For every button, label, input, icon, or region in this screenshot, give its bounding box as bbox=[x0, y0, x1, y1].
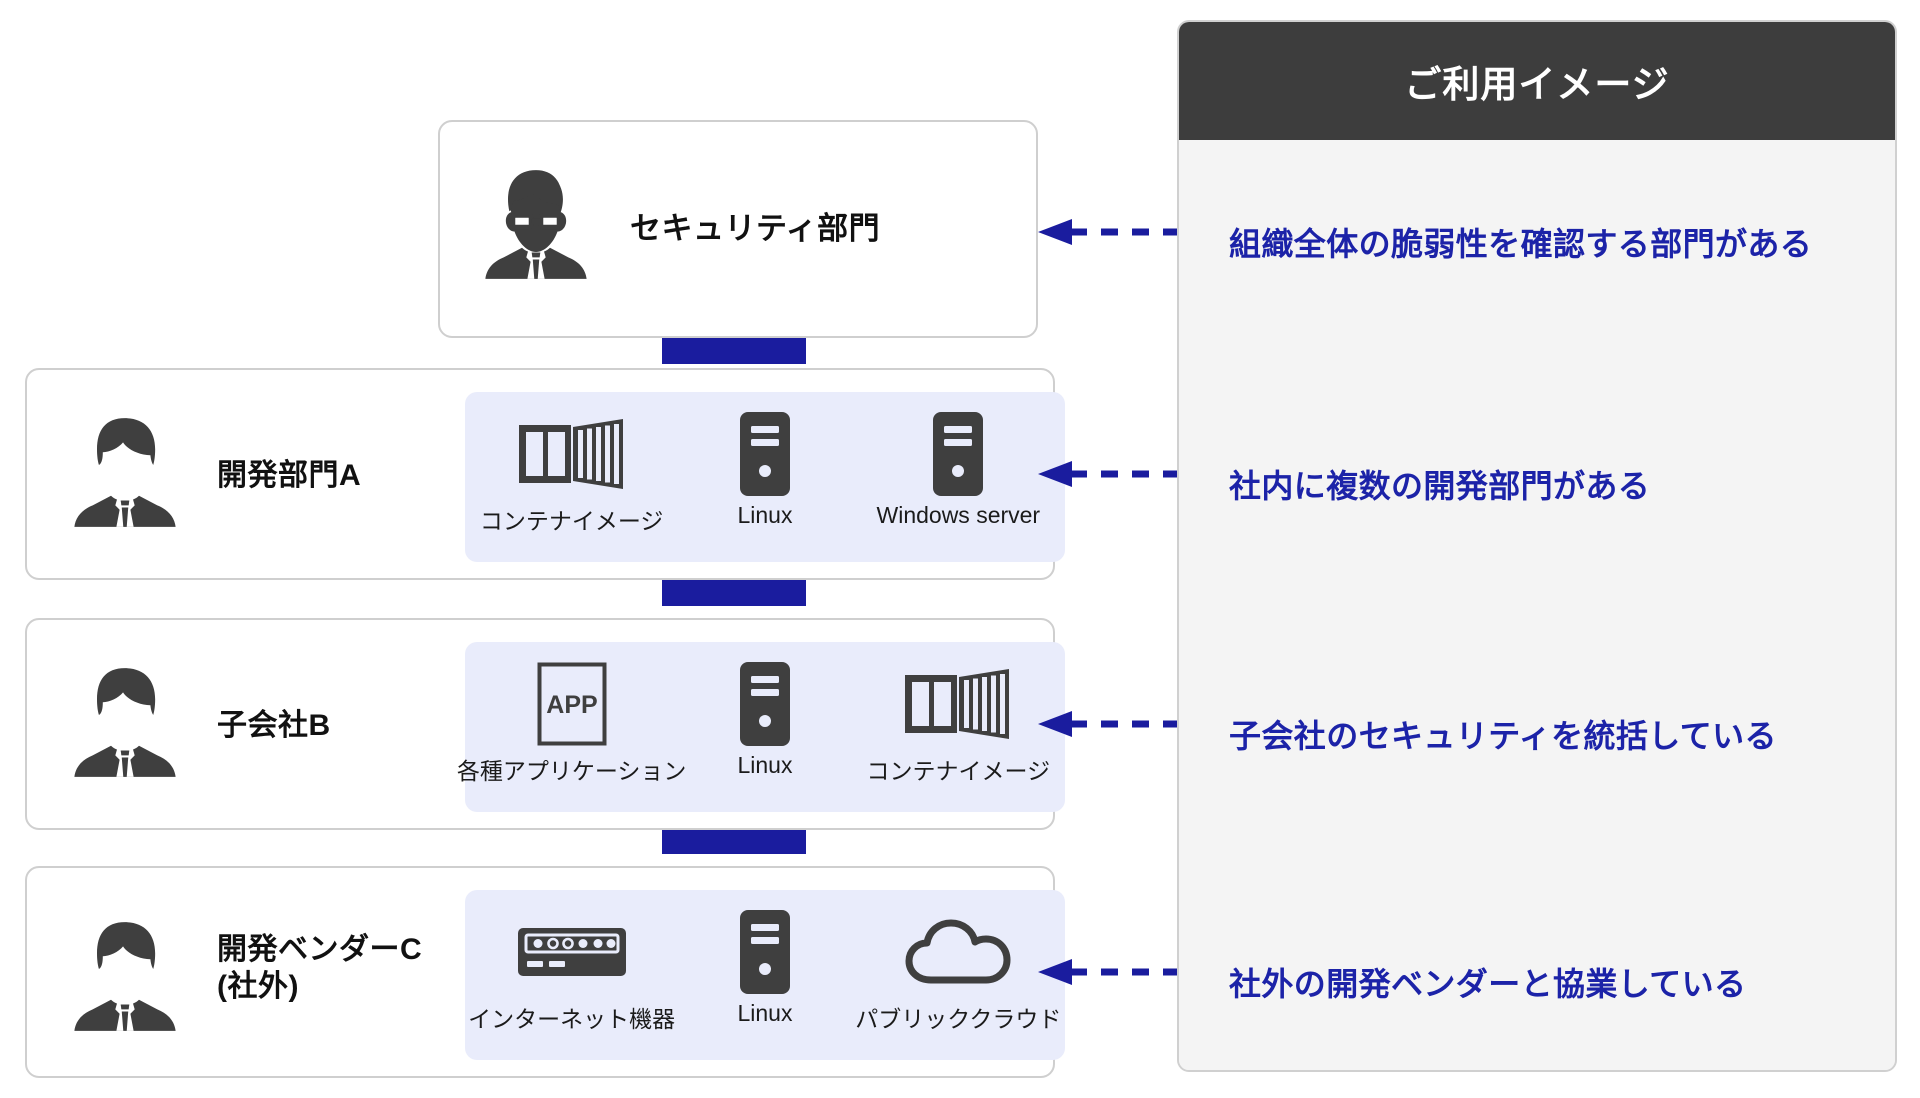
arrow-to-note-3 bbox=[1038, 711, 1178, 737]
person-icon bbox=[71, 920, 179, 1032]
svg-text:APP: APP bbox=[546, 691, 597, 719]
connector-security-to-a bbox=[662, 338, 806, 364]
connector-a-to-b bbox=[662, 580, 806, 606]
usage-image-panel: ご利用イメージ 組織全体の脆弱性を確認する部門がある 社内に複数の開発部門がある… bbox=[1177, 20, 1897, 1072]
asset-linux: Linux bbox=[670, 410, 860, 529]
arrow-to-note-1 bbox=[1038, 219, 1178, 245]
network-switch-icon bbox=[516, 908, 628, 996]
usage-note-2: 社内に複数の開発部門がある bbox=[1229, 461, 1650, 507]
cloud-icon bbox=[905, 908, 1011, 996]
asset-label: パブリッククラウド bbox=[855, 1000, 1061, 1034]
asset-label: Linux bbox=[737, 752, 792, 779]
person-icon bbox=[71, 416, 179, 528]
connector-b-to-c bbox=[662, 828, 806, 854]
asset-label: Linux bbox=[737, 502, 792, 529]
security-department-label: セキュリティ部門 bbox=[630, 210, 880, 248]
asset-label: コンテナイメージ bbox=[480, 502, 664, 536]
asset-label: Linux bbox=[737, 1000, 792, 1027]
asset-container-image: コンテナイメージ bbox=[477, 410, 667, 536]
development-vendor-c-card: 開発ベンダーC (社外) bbox=[25, 866, 1055, 1078]
development-department-a-card: 開発部門A bbox=[25, 368, 1055, 580]
asset-label: インターネット機器 bbox=[468, 1000, 675, 1034]
diagram-canvas: セキュリティ部門 開発部門A bbox=[0, 0, 1920, 1098]
asset-label: Windows server bbox=[877, 502, 1041, 529]
arrow-to-note-2 bbox=[1038, 461, 1178, 487]
container-image-icon bbox=[903, 660, 1013, 748]
asset-label: 各種アプリケーション bbox=[457, 752, 687, 786]
server-tower-icon bbox=[739, 660, 791, 748]
panel-header: ご利用イメージ bbox=[1179, 22, 1895, 140]
development-vendor-c-label: 開発ベンダーC (社外) bbox=[217, 932, 422, 1005]
usage-note-4: 社外の開発ベンダーと協業している bbox=[1229, 959, 1746, 1005]
asset-windows-server: Windows server bbox=[863, 410, 1053, 529]
asset-internet-device: インターネット機器 bbox=[477, 908, 667, 1034]
usage-note-1: 組織全体の脆弱性を確認する部門がある bbox=[1229, 219, 1812, 265]
asset-linux: Linux bbox=[670, 908, 860, 1027]
asset-panel-c: インターネット機器 Linux bbox=[465, 890, 1065, 1060]
server-tower-icon bbox=[739, 410, 791, 498]
server-tower-icon bbox=[932, 410, 984, 498]
panel-body: 組織全体の脆弱性を確認する部門がある 社内に複数の開発部門がある 子会社のセキュ… bbox=[1179, 140, 1895, 1072]
subsidiary-b-label: 子会社B bbox=[217, 708, 331, 745]
asset-panel-b: APP 各種アプリケーション Linux bbox=[465, 642, 1065, 812]
server-tower-icon bbox=[739, 908, 791, 996]
asset-label: コンテナイメージ bbox=[867, 752, 1051, 786]
arrow-to-note-4 bbox=[1038, 959, 1178, 985]
person-with-glasses-icon bbox=[482, 168, 590, 280]
person-icon bbox=[71, 666, 179, 778]
asset-container-image: コンテナイメージ bbox=[863, 660, 1053, 786]
asset-applications: APP 各種アプリケーション bbox=[477, 660, 667, 786]
asset-linux: Linux bbox=[670, 660, 860, 779]
container-image-icon bbox=[517, 410, 627, 498]
subsidiary-b-card: 子会社B APP 各種アプリケーション bbox=[25, 618, 1055, 830]
asset-panel-a: コンテナイメージ Linux bbox=[465, 392, 1065, 562]
panel-title: ご利用イメージ bbox=[1404, 54, 1669, 108]
asset-public-cloud: パブリッククラウド bbox=[863, 908, 1053, 1034]
app-box-icon: APP bbox=[536, 660, 608, 748]
department-a-label: 開発部門A bbox=[217, 458, 361, 495]
security-department-card: セキュリティ部門 bbox=[438, 120, 1038, 338]
usage-note-3: 子会社のセキュリティを統括している bbox=[1229, 711, 1777, 757]
